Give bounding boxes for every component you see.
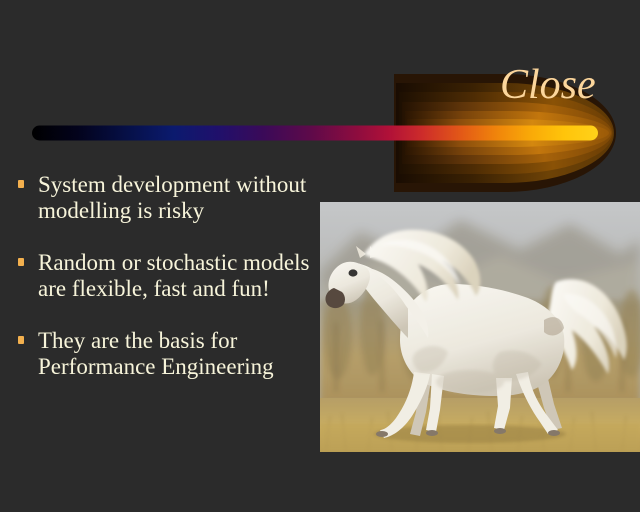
gradient-bar xyxy=(32,125,598,140)
list-item-label: They are the basis for Performance Engin… xyxy=(38,328,322,380)
page-title: Close xyxy=(500,64,596,106)
list-item-label: Random or stochastic models are flexible… xyxy=(38,250,322,302)
bullet-list: System development without modelling is … xyxy=(12,172,322,406)
slide: Close System development without modelli… xyxy=(0,0,640,512)
list-item: System development without modelling is … xyxy=(12,172,322,224)
square-bullet-icon xyxy=(18,180,24,188)
list-item: They are the basis for Performance Engin… xyxy=(12,328,322,380)
square-bullet-icon xyxy=(18,336,24,344)
list-item-label: System development without modelling is … xyxy=(38,172,322,224)
horse-photograph xyxy=(320,202,640,452)
list-item: Random or stochastic models are flexible… xyxy=(12,250,322,302)
square-bullet-icon xyxy=(18,258,24,266)
horse-photo-illustration xyxy=(320,202,640,452)
